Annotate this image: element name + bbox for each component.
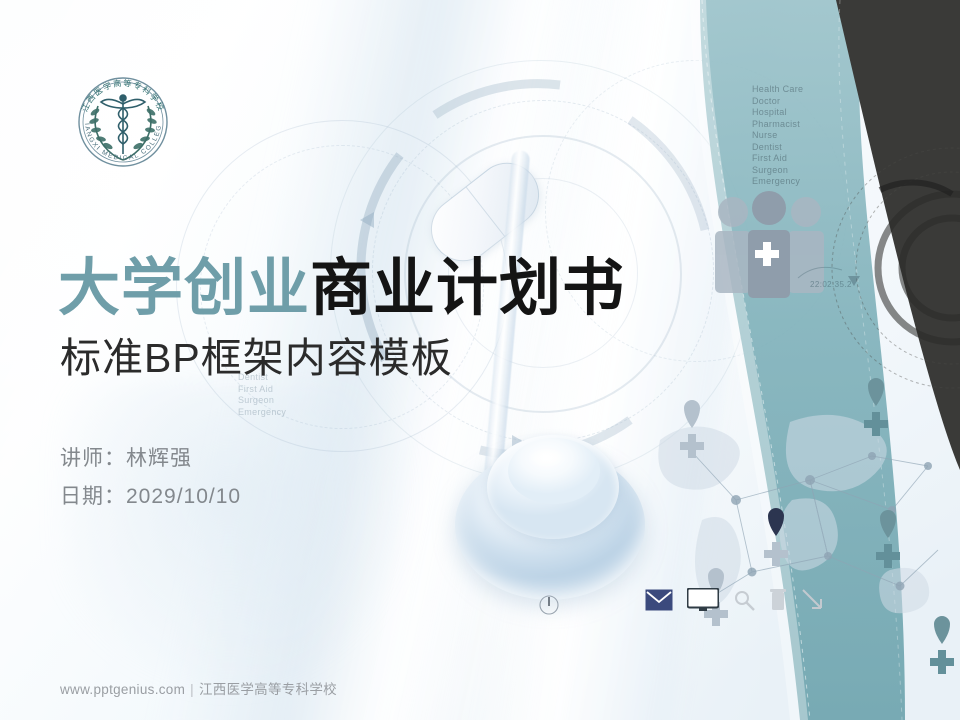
date-label: 日期：	[60, 485, 126, 508]
date-value: 2029/10/10	[126, 485, 241, 508]
background-icon-strip	[645, 588, 825, 612]
background-keyword-list-right: Health Care Doctor Hospital Pharmacist N…	[752, 84, 803, 188]
footer-site: www.pptgenius.com	[60, 682, 185, 697]
title-accent-part: 大学创业	[58, 254, 310, 323]
footer: www.pptgenius.com|江西医学高等专科学校	[60, 678, 337, 698]
power-icon	[538, 592, 560, 616]
trash-icon	[769, 588, 787, 612]
presentation-slide: Health Care Doctor Hospital Pharmacist N…	[0, 0, 960, 720]
presenter-line: 讲师：林辉强	[60, 440, 241, 478]
page-subtitle: 标准BP框架内容模板	[60, 332, 738, 384]
arrow-icon	[801, 588, 825, 612]
magnifier-icon	[733, 589, 755, 611]
world-map-network-graphic	[640, 360, 960, 690]
footer-separator: |	[190, 682, 194, 697]
presenter-name: 林辉强	[126, 447, 192, 470]
mail-icon	[645, 589, 673, 611]
footer-org: 江西医学高等专科学校	[199, 682, 337, 697]
monitor-icon	[687, 588, 719, 612]
page-title: 大学创业商业计划书	[58, 252, 738, 326]
meta-block: 讲师：林辉强 日期：2029/10/10	[60, 440, 241, 516]
date-line: 日期：2029/10/10	[60, 478, 241, 516]
timecode-marker-icon	[796, 256, 866, 296]
title-strong-part: 商业计划书	[310, 254, 625, 323]
college-logo: 江西医学高等专科学校 JIANGXI MEDICAL COLLEGE	[60, 72, 186, 172]
presenter-label: 讲师：	[60, 447, 126, 470]
title-block: 大学创业商业计划书 标准BP框架内容模板	[58, 252, 738, 384]
